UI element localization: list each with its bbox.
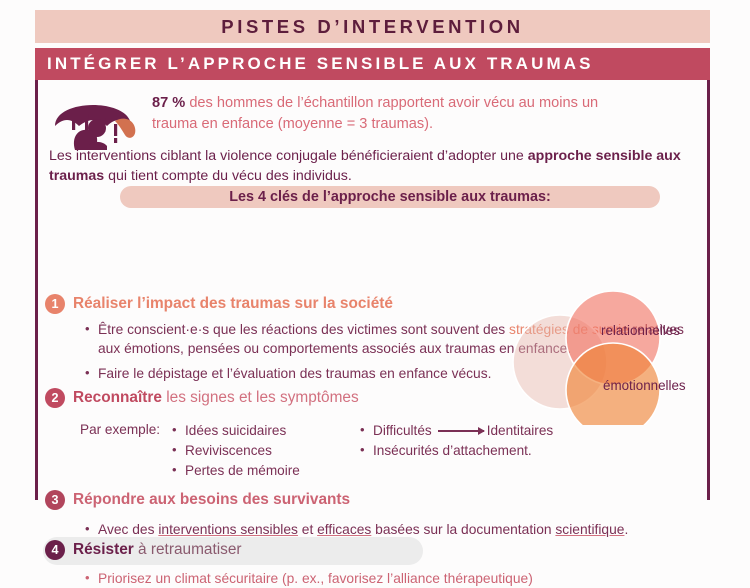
list-item: Difficultés Identitaires [360,421,560,441]
key-label-1: Réaliser l’impact des traumas sur la soc… [73,295,393,313]
poster-page: PISTES D’INTERVENTION INTÉGRER L’APPROCH… [0,0,750,500]
key-label-4-rest: à retraumatiser [134,541,242,558]
page-title: PISTES D’INTERVENTION [221,16,523,38]
key-label-2: Reconnaître les signes et les symptômes [73,389,359,407]
bullet-4-text: Priorisez un climat sécuritaire (p. ex.,… [98,571,533,586]
list-item: Reviviscences [172,441,327,461]
page-title-bar: PISTES D’INTERVENTION [35,10,710,43]
four-keys-pill: Les 4 clés de l’approche sensible aux tr… [120,186,660,208]
four-keys-label: Les 4 clés de l’approche sensible aux tr… [229,189,551,205]
key-label-3: Répondre aux besoins des survivants [73,491,350,509]
list-item: Pertes de mémoire [172,461,327,481]
bullet-3-u3: scientifique [555,522,624,537]
intro-part1: Les interventions ciblant la violence co… [49,148,528,164]
example-column-a: Idées suicidaires Reviviscences Pertes d… [172,421,327,481]
example-b-arrow-target: Identitaires [487,421,554,441]
venn-label-relationnelles: relationnelles [601,323,680,338]
key-label-2-bold: Reconnaître [73,389,162,406]
key-item-4: 4 Résister à retraumatiser [45,540,242,560]
key-item-2: 2 Reconnaître les signes et les symptôme… [45,388,359,408]
key-label-4: Résister à retraumatiser [73,541,242,559]
key-item-1: 1 Réaliser l’impact des traumas sur la s… [45,294,393,314]
example-column-b: Difficultés Identitaires Insécurités d’a… [360,421,560,461]
key-4-bullet: Priorisez un climat sécuritaire (p. ex.,… [85,569,690,588]
frame-border-left [35,80,38,500]
venn-label-emotionnelles: émotionnelles [603,378,686,393]
intro-part2: qui tient compte du vécu des individus. [104,168,352,184]
statistic-line1: des hommes de l’échantillon rapportent a… [185,95,598,111]
venn-diagram: relationnelles émotionnelles [505,290,710,425]
intro-paragraph: Les interventions ciblant la violence co… [49,146,697,186]
content-frame: 87 % des hommes de l’échantillon rapport… [35,80,710,500]
example-a-2: Reviviscences [185,443,272,458]
key-label-2-rest: les signes et les symptômes [162,389,359,406]
section-title: INTÉGRER L’APPROCHE SENSIBLE AUX TRAUMAS [47,54,594,74]
bullet-1a-pre: Être conscient·e·s que les réactions des… [98,322,509,337]
example-label: Par exemple: [80,422,160,437]
arrow-right-icon [438,430,484,432]
key-item-3: 3 Répondre aux besoins des survivants [45,490,350,510]
difficulte-arrow-group: Difficultés Identitaires [373,421,553,441]
list-item: Idées suicidaires [172,421,327,441]
key-badge-3: 3 [45,490,65,510]
example-b-2: Insécurités d’attachement. [373,443,532,458]
bullet-3-p3: basées sur la documentation [371,522,555,537]
example-a-1: Idées suicidaires [185,423,286,438]
key-badge-2: 2 [45,388,65,408]
statistic-line2: trauma en enfance (moyenne = 3 traumas). [152,116,433,132]
bullet-3-p1: Avec des [98,522,158,537]
umbrella-person-icon [45,88,150,153]
bullet-3-p4: . [624,522,628,537]
example-a-3: Pertes de mémoire [185,463,300,478]
statistic-percent: 87 % [152,95,185,111]
key-badge-4: 4 [45,540,65,560]
list-item: Priorisez un climat sécuritaire (p. ex.,… [85,569,690,588]
bullet-3-p2: et [298,522,317,537]
key-badge-1: 1 [45,294,65,314]
bullet-1b-text: Faire le dépistage et l’évaluation des t… [98,366,491,381]
key-label-4-bold: Résister [73,541,134,558]
bullet-3-u2: efficaces [317,522,371,537]
list-item: Insécurités d’attachement. [360,441,560,461]
bullet-3-u1: interventions sensibles [158,522,298,537]
section-title-bar: INTÉGRER L’APPROCHE SENSIBLE AUX TRAUMAS [35,48,710,80]
statistic-text: 87 % des hommes de l’échantillon rapport… [152,93,692,135]
example-b-1: Difficultés [373,421,432,441]
